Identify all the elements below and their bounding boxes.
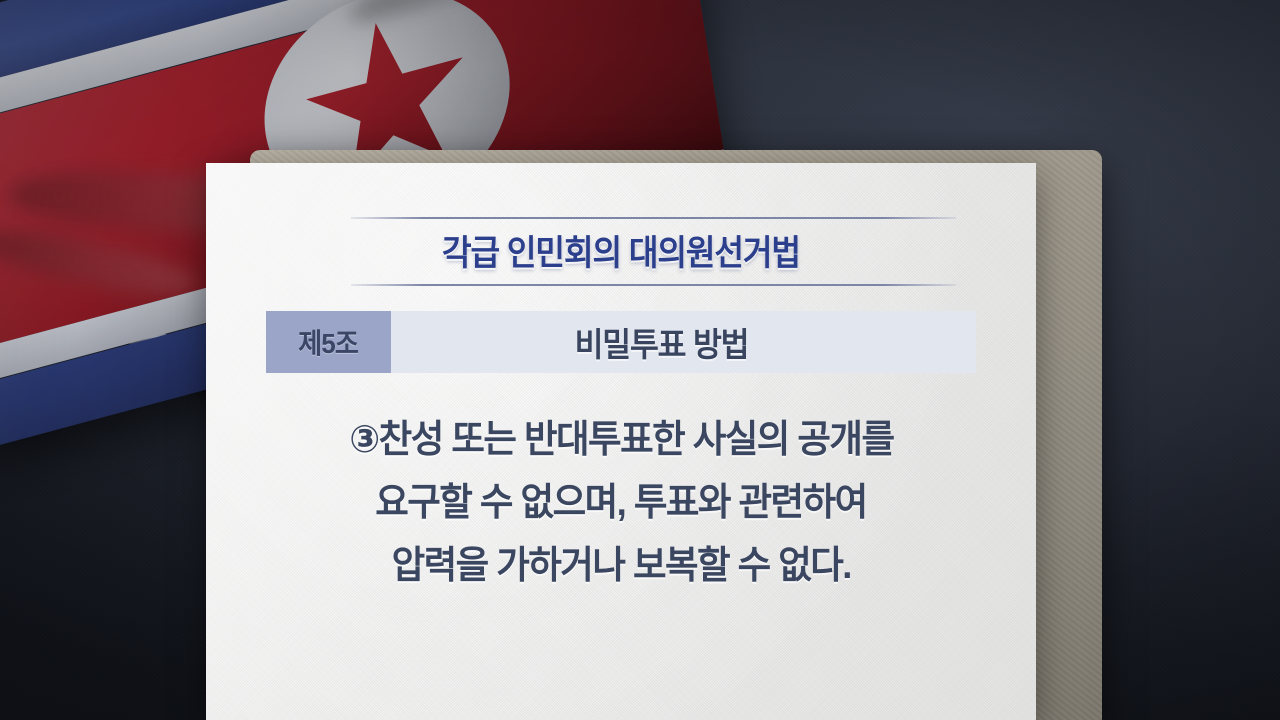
article-number-badge: 제5조 [266, 311, 391, 373]
article-heading: 비밀투표 방법 [391, 311, 976, 373]
clause-line: 요구할 수 없으며, 투표와 관련하여 [244, 472, 998, 535]
clause-line: 압력을 가하거나 보복할 수 없다. [244, 535, 998, 598]
law-card: 각급 인민회의 대의원선거법 제5조 비밀투표 방법 ③찬성 또는 반대투표한 … [206, 163, 1036, 720]
clause-line: ③찬성 또는 반대투표한 사실의 공개를 [244, 409, 998, 472]
screenshot-stage: 각급 인민회의 대의원선거법 제5조 비밀투표 방법 ③찬성 또는 반대투표한 … [0, 0, 1280, 720]
article-heading-label: 비밀투표 방법 [575, 318, 749, 366]
document-title: 각급 인민회의 대의원선거법 [239, 225, 1003, 276]
clause-text: ③찬성 또는 반대투표한 사실의 공개를 요구할 수 없으며, 투표와 관련하여… [244, 409, 998, 598]
title-rule-top [351, 217, 956, 219]
article-number-label: 제5조 [299, 322, 359, 362]
title-rule-bottom [351, 284, 956, 286]
article-bar: 제5조 비밀투표 방법 [266, 311, 976, 373]
